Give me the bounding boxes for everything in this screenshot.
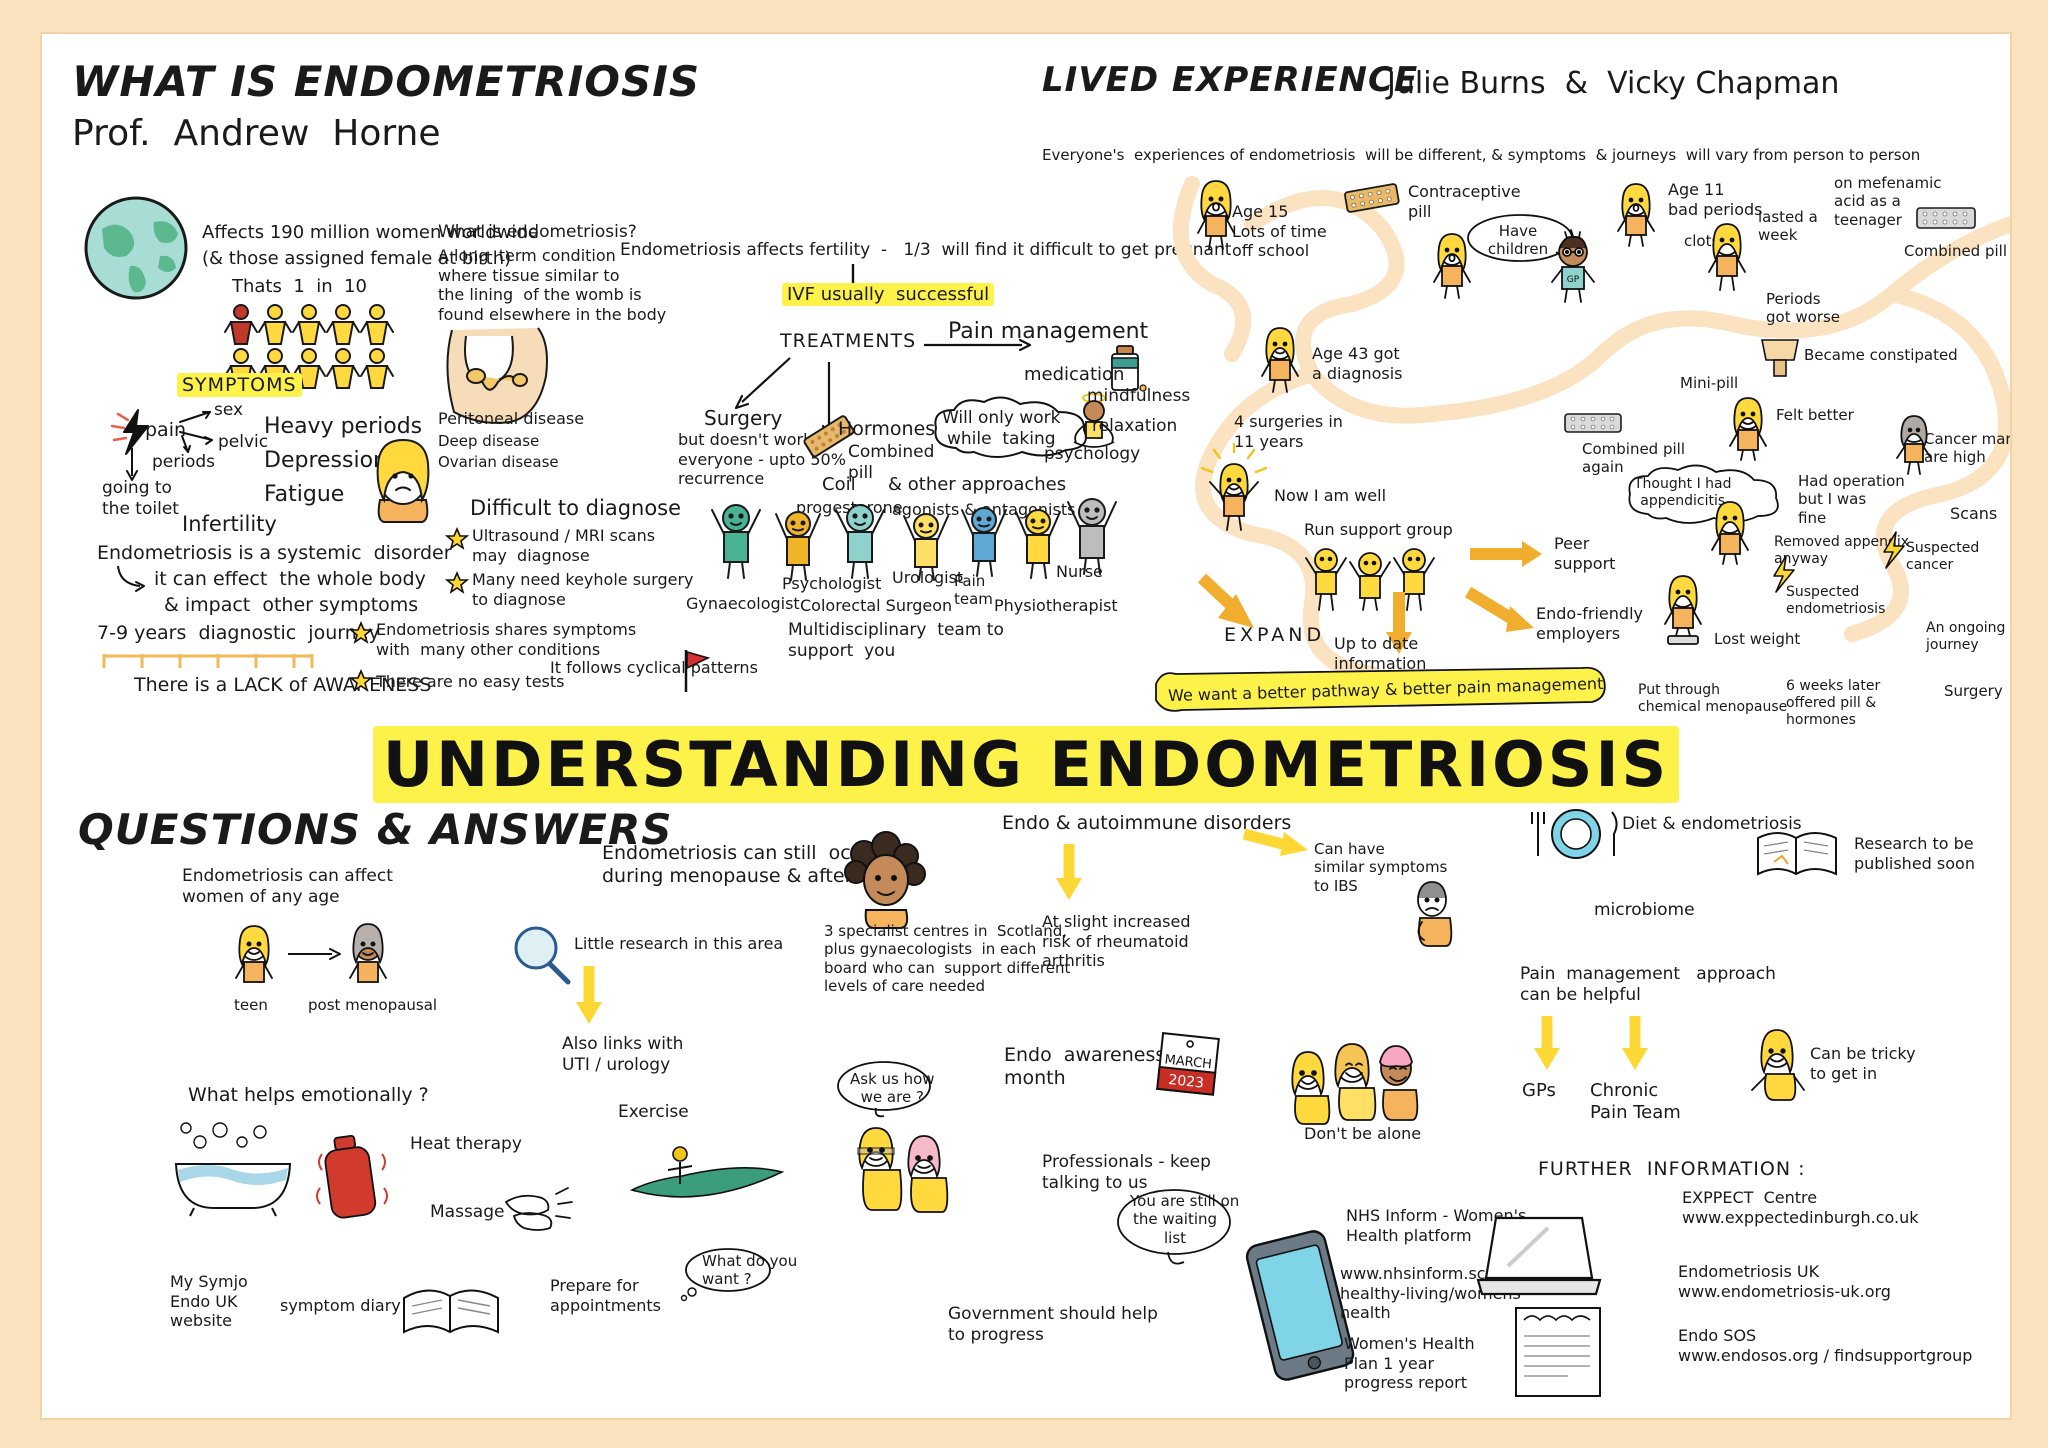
lived-experience-title: LIVED EXPERIENCE bbox=[1042, 60, 1418, 101]
diagnostic-journey-label: 7-9 years diagnostic journey bbox=[97, 622, 380, 645]
star-icon bbox=[350, 670, 372, 692]
team-label-colorectal-surgeon: Colorectal Surgeon bbox=[800, 596, 952, 616]
qa-post-menopausal-label: post menopausal bbox=[308, 996, 437, 1014]
lightning-bolt-icon bbox=[1876, 530, 1910, 570]
qa-dont-be-alone: Don't be alone bbox=[1304, 1124, 1421, 1144]
vicky-ongoing-journey: An ongoing journey bbox=[1926, 620, 2005, 654]
magnifier-icon bbox=[508, 922, 574, 988]
resource-exppect: EXPPECT Centre www.exppectedinburgh.co.u… bbox=[1682, 1188, 1919, 1227]
qa-prepare-appointments: Prepare for appointments bbox=[550, 1276, 661, 1315]
person-icon-tricky bbox=[1748, 1026, 1806, 1102]
team-label-physiotherapist: Physiotherapist bbox=[994, 596, 1118, 616]
julie-have-children: Have children bbox=[1482, 222, 1554, 259]
globe-stat-line3: Thats 1 in 10 bbox=[232, 276, 367, 298]
sad-woman-icon bbox=[362, 434, 442, 524]
hot-water-bottle-icon bbox=[314, 1130, 392, 1230]
laptop-icon bbox=[1474, 1210, 1604, 1306]
qa-government-help: Government should help to progress bbox=[948, 1304, 1158, 1345]
person-icon-vicky-11 bbox=[1612, 182, 1660, 248]
julie-now-well: Now I am well bbox=[1274, 486, 1386, 506]
systemic-arrow bbox=[114, 564, 154, 598]
team-label-nurse: Nurse bbox=[1056, 562, 1103, 582]
qa-any-age: Endometriosis can affect women of any ag… bbox=[182, 866, 393, 907]
person-icon-vicky-weight bbox=[1658, 574, 1708, 646]
resource-endometriosis-uk: Endometriosis UK www.endometriosis-uk.or… bbox=[1678, 1262, 1891, 1301]
vicky-cancer-markers: Cancer markers are high bbox=[1924, 430, 2012, 467]
qa-ask-us-how: Ask us how we are ? bbox=[850, 1070, 935, 1107]
documents-icon bbox=[1508, 1298, 1612, 1404]
vicky-surgery: Surgery bbox=[1944, 682, 2003, 700]
lived-experience-names: Julie Burns & Vicky Chapman bbox=[1387, 66, 1839, 103]
toilet-icon bbox=[1754, 334, 1806, 382]
vicky-combined-pill: Combined pill bbox=[1904, 242, 2007, 260]
systemic-line3: & impact other symptoms bbox=[164, 594, 418, 617]
team-label-urologist: Urologist bbox=[892, 568, 963, 588]
teen-person-icon bbox=[230, 922, 278, 992]
julie-peer-support: Peer support bbox=[1554, 534, 1615, 573]
disease-type-ovarian: Ovarian disease bbox=[438, 453, 559, 471]
unwell-person-icon bbox=[1408, 878, 1456, 948]
vicky-lasted-week: lasted a week bbox=[1758, 208, 1818, 245]
peer-support-arrow bbox=[1466, 538, 1546, 572]
qa-tricky-to-get-in: Can be tricky to get in bbox=[1810, 1044, 1916, 1083]
qa-microbiome: microbiome bbox=[1594, 900, 1695, 921]
qa-title: QUESTIONS & ANSWERS bbox=[78, 804, 673, 855]
treatments-label: TREATMENTS bbox=[780, 330, 916, 353]
svg-text:GP: GP bbox=[1567, 275, 1580, 285]
pain-management-label: Pain management bbox=[948, 319, 1148, 346]
qa-teen-label: teen bbox=[234, 996, 268, 1014]
mini-pill-packet-icon bbox=[1562, 410, 1626, 438]
person-icon-vicky-teen bbox=[1702, 222, 1752, 292]
symptom-fatigue: Fatigue bbox=[264, 482, 344, 509]
person-icon-julie-43 bbox=[1256, 326, 1304, 394]
qa-specialist-centres: 3 specialist centres in Scotland, plus g… bbox=[824, 922, 1070, 995]
massage-hands-icon bbox=[494, 1182, 574, 1242]
medication-label: medication bbox=[1024, 364, 1124, 386]
julie-age15: Age 15 Lots of time off school bbox=[1232, 202, 1327, 261]
what-is-subtitle: Prof. Andrew Horne bbox=[72, 112, 441, 156]
age-progression-arrow bbox=[286, 944, 350, 964]
symptom-toilet-label: going to the toilet bbox=[102, 478, 179, 519]
disease-type-deep: Deep disease bbox=[438, 432, 539, 450]
vicky-mini-pill: Mini-pill bbox=[1680, 374, 1738, 392]
down-arrow-yellow-icon bbox=[1620, 1014, 1650, 1072]
symptom-infertility: Infertility bbox=[182, 512, 277, 538]
vicky-6weeks-later: 6 weeks later offered pill & hormones bbox=[1786, 678, 1880, 729]
cyclical-patterns-note: It follows cyclical patterns bbox=[550, 658, 758, 678]
cloud-text: Will only work while taking bbox=[942, 408, 1061, 449]
post-menopausal-person-icon bbox=[342, 922, 394, 994]
star-icon bbox=[446, 528, 468, 550]
systemic-line2: it can effect the whole body bbox=[154, 568, 426, 591]
ibs-arrow bbox=[1242, 824, 1312, 860]
person-icon-vicky-op bbox=[1706, 500, 1754, 566]
qa-what-helps: What helps emotionally ? bbox=[188, 1084, 429, 1107]
curly-hair-woman-icon bbox=[834, 834, 934, 930]
julie-expand: EXPAND bbox=[1224, 624, 1325, 647]
open-research-book-icon bbox=[1754, 824, 1840, 886]
qa-pain-management-approach: Pain management approach can be helpful bbox=[1520, 964, 1776, 1005]
resource-womens-health-plan: Women's Health Plan 1 year progress repo… bbox=[1344, 1334, 1475, 1393]
older-person-icon bbox=[1892, 414, 1936, 478]
flag-icon bbox=[680, 648, 712, 694]
qa-symptom-diary: symptom diary bbox=[280, 1296, 401, 1316]
coil-label: Coil bbox=[822, 474, 856, 496]
contraceptive-pill-icon bbox=[1342, 182, 1402, 216]
poster-centre-title: UNDERSTANDING ENDOMETRIOSIS bbox=[42, 728, 2010, 801]
symptoms-label: SYMPTOMS bbox=[177, 374, 302, 397]
definition-title: What is endometriosis? bbox=[438, 222, 637, 243]
qa-endo-awareness-month: Endo awareness month bbox=[1004, 1044, 1165, 1090]
julie-4-surgeries: 4 surgeries in 11 years bbox=[1234, 412, 1343, 451]
star-icon bbox=[446, 572, 468, 594]
resource-endo-sos: Endo SOS www.endosos.org / findsupportgr… bbox=[1678, 1326, 1972, 1365]
down-arrow-yellow-icon bbox=[574, 964, 604, 1026]
vicky-periods-worse: Periods got worse bbox=[1766, 290, 1840, 327]
bath-icon bbox=[160, 1116, 310, 1216]
star-point-shares-symptoms: Endometriosis shares symptoms with many … bbox=[376, 620, 636, 659]
vicky-suspected-endo: Suspected endometriosis bbox=[1786, 584, 1885, 618]
qa-chronic-pain-team: Chronic Pain Team bbox=[1590, 1080, 1681, 1124]
team-label-psychologist: Psychologist bbox=[782, 574, 881, 594]
qa-little-research: Little research in this area bbox=[574, 934, 783, 954]
qa-exercise: Exercise bbox=[618, 1102, 689, 1123]
surgery-title: Surgery bbox=[704, 406, 782, 430]
star-icon bbox=[350, 622, 372, 644]
further-information-title: FURTHER INFORMATION : bbox=[1538, 1158, 1805, 1181]
endo-friendly-arrow bbox=[1464, 586, 1538, 638]
qa-rheumatoid-arthritis: At slight increased risk of rheumatoid a… bbox=[1042, 912, 1191, 971]
psychology-label: psychology bbox=[1044, 444, 1140, 465]
journey-timeline-icon bbox=[100, 648, 320, 674]
lived-experience-intro: Everyone's experiences of endometriosis … bbox=[1042, 146, 1920, 164]
gp-person-icon: GP bbox=[1546, 232, 1600, 304]
qa-symjo-website: My Symjo Endo UK website bbox=[170, 1272, 248, 1331]
support-group-people-icon bbox=[1304, 534, 1454, 620]
vicky-became-constipated: Became constipated bbox=[1804, 346, 1958, 364]
qa-heat-therapy: Heat therapy bbox=[410, 1134, 522, 1155]
difficult-to-diagnose-title: Difficult to diagnose bbox=[470, 496, 681, 522]
qa-waiting-list: You are still on the waiting list bbox=[1130, 1192, 1220, 1247]
team-label-pain-team: Pain team bbox=[954, 572, 993, 609]
systemic-line1: Endometriosis is a systemic disorder bbox=[97, 542, 452, 565]
ivf-note: IVF usually successful bbox=[782, 284, 994, 306]
difficult-point-1: Ultrasound / MRI scans may diagnose bbox=[472, 526, 655, 565]
down-arrow-yellow-icon bbox=[1532, 1014, 1562, 1072]
what-is-title: WHAT IS ENDOMETRIOSIS bbox=[72, 56, 700, 107]
two-friends-icon bbox=[846, 1124, 956, 1214]
difficult-point-2: Many need keyhole surgery to diagnose bbox=[472, 570, 694, 609]
vicky-felt-better: Felt better bbox=[1776, 406, 1854, 424]
open-book-icon bbox=[398, 1276, 508, 1342]
vicky-lost-weight: Lost weight bbox=[1714, 630, 1800, 648]
person-icon-vicky-better bbox=[1724, 396, 1772, 462]
qa-gps: GPs bbox=[1522, 1080, 1556, 1102]
combined-pill-packet-icon bbox=[1914, 204, 1982, 234]
globe-icon bbox=[82, 194, 192, 304]
paddleboard-icon bbox=[622, 1132, 792, 1212]
vicky-had-operation: Had operation but I was fine bbox=[1798, 472, 1905, 527]
disease-type-peritoneal: Peritoneal disease bbox=[438, 409, 584, 429]
down-arrow-yellow-icon bbox=[1054, 842, 1084, 902]
team-caption: Multidisciplinary team to support you bbox=[788, 620, 1004, 661]
vicky-scans: Scans bbox=[1950, 504, 1997, 524]
poster-canvas: WHAT IS ENDOMETRIOSIS Prof. Andrew Horne… bbox=[40, 32, 2012, 1420]
team-label-gynaecologist: Gynaecologist bbox=[686, 594, 800, 614]
vicky-chemical-menopause: Put through chemical menopause bbox=[1638, 682, 1787, 716]
julie-age43-diagnosis: Age 43 got a diagnosis bbox=[1312, 344, 1403, 383]
vicky-suspected-cancer: Suspected cancer bbox=[1906, 540, 1979, 574]
person-icon-julie-well bbox=[1194, 450, 1274, 534]
qa-what-do-you-want: What do you want ? bbox=[702, 1252, 797, 1289]
calendar-icon: MARCH 2023 bbox=[1154, 1030, 1224, 1098]
three-women-icon bbox=[1278, 1034, 1438, 1120]
plate-cutlery-icon bbox=[1524, 806, 1624, 860]
other-approaches-label: & other approaches bbox=[888, 474, 1066, 496]
qa-uti-urology: Also links with UTI / urology bbox=[562, 1034, 683, 1075]
julie-endo-friendly-employers: Endo-friendly employers bbox=[1536, 604, 1643, 643]
vicky-age11: Age 11 bad periods bbox=[1668, 180, 1763, 219]
qa-research-published: Research to be published soon bbox=[1854, 834, 1975, 873]
star-point-no-easy-tests: There are no easy tests bbox=[376, 672, 565, 692]
